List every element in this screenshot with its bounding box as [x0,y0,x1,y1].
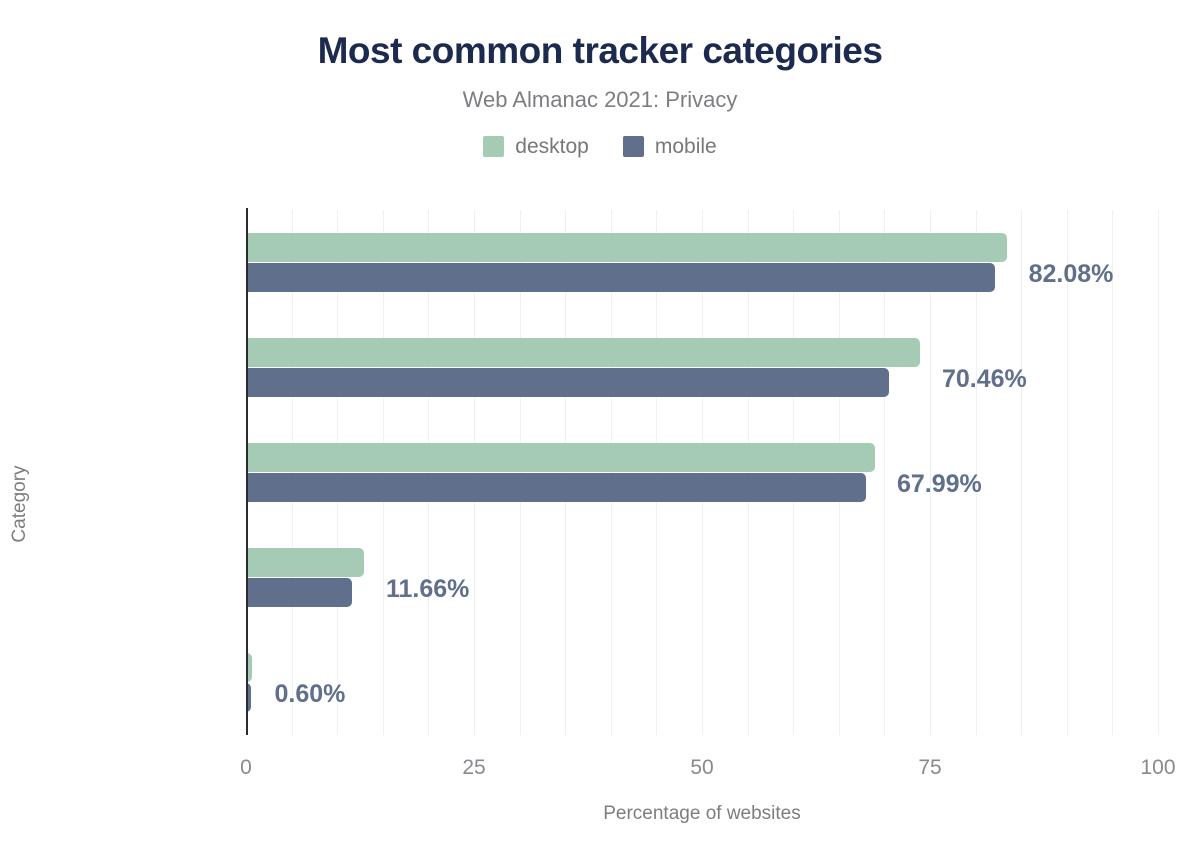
x-axis: 0255075100 Percentage of websites [246,750,1158,810]
bar-mobile-site-analytics[interactable] [246,368,889,397]
x-tick-label: 75 [918,756,941,780]
plot-wrapper: Category any tracker82.08%site_analytics… [0,195,1200,795]
plot-area: any tracker82.08%site_analytics70.46%adv… [246,210,1158,735]
legend-item-mobile[interactable]: mobile [623,135,717,159]
chart-subtitle: Web Almanac 2021: Privacy [0,87,1200,113]
legend-swatch-desktop [483,136,504,157]
bar-group [246,443,1158,502]
chart-header: Most common tracker categories Web Alman… [0,0,1200,159]
bar-group [246,233,1158,292]
chart-legend: desktop mobile [0,135,1200,159]
chart-title: Most common tracker categories [0,30,1200,73]
bar-group [246,338,1158,397]
legend-label-mobile: mobile [655,135,717,159]
y-axis-line [246,208,248,735]
bar-group [246,653,1158,712]
x-tick-label: 100 [1140,756,1175,780]
bar-desktop-advertising[interactable] [246,443,875,472]
bar-group [246,548,1158,607]
legend-item-desktop[interactable]: desktop [483,135,589,159]
y-axis-title: Category [9,424,31,584]
legend-label-desktop: desktop [515,135,589,159]
x-tick-label: 25 [462,756,485,780]
x-tick-label: 50 [690,756,713,780]
bar-mobile-social-media[interactable] [246,578,352,607]
x-tick-label: 0 [240,756,252,780]
x-axis-title: Percentage of websites [246,803,1158,825]
bar-mobile-any-tracker[interactable] [246,263,995,292]
bar-desktop-any-tracker[interactable] [246,233,1007,262]
legend-swatch-mobile [623,136,644,157]
gridline [1158,210,1159,735]
bar-desktop-site-analytics[interactable] [246,338,920,367]
bar-mobile-advertising[interactable] [246,473,866,502]
bar-desktop-social-media[interactable] [246,548,364,577]
